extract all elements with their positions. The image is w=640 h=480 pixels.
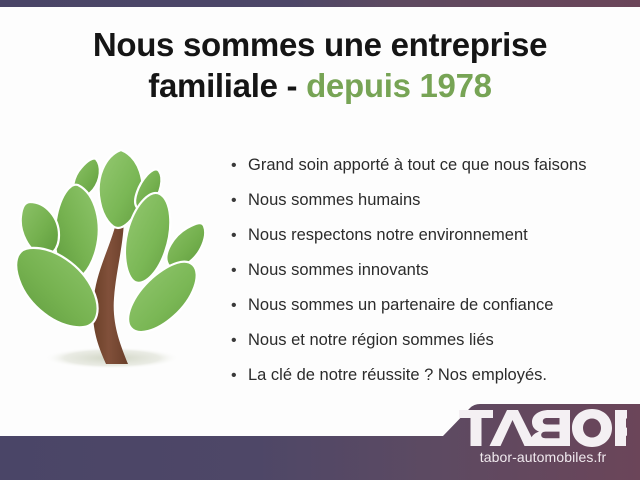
- slide-canvas: Nous sommes une entreprise familiale - d…: [0, 0, 640, 480]
- list-item-label: Nous sommes humains: [248, 191, 420, 209]
- list-item-label: Nous sommes un partenaire de confiance: [248, 296, 553, 314]
- logo-wordmark: [455, 408, 631, 448]
- top-accent-bar: [0, 0, 640, 7]
- bullet-marker-icon: •: [231, 183, 237, 218]
- bullet-marker-icon: •: [231, 148, 237, 183]
- value-proposition-list: • Grand soin apporté à tout ce que nous …: [228, 148, 628, 393]
- page-title-line1: Nous sommes une entreprise: [30, 24, 610, 65]
- list-item: • Nous et notre région sommes liés: [228, 323, 628, 358]
- list-item: • Nous sommes un partenaire de confiance: [228, 288, 628, 323]
- page-title-accent: depuis 1978: [306, 67, 492, 104]
- list-item: • La clé de notre réussite ? Nos employé…: [228, 358, 628, 393]
- logo-wordmark-svg: [459, 408, 627, 448]
- list-item-label: Nous respectons notre environnement: [248, 226, 528, 244]
- list-item: • Grand soin apporté à tout ce que nous …: [228, 148, 628, 183]
- tree-illustration-svg: [8, 140, 220, 395]
- bullet-marker-icon: •: [231, 323, 237, 358]
- list-item: • Nous respectons notre environnement: [228, 218, 628, 253]
- bullet-marker-icon: •: [231, 253, 237, 288]
- brand-logo[interactable]: tabor-automobiles.fr: [455, 408, 631, 466]
- bullet-marker-icon: •: [231, 288, 237, 323]
- tree-illustration: [8, 140, 220, 395]
- page-title-line2-plain: familiale -: [148, 67, 306, 104]
- logo-tagline: tabor-automobiles.fr: [455, 448, 631, 466]
- list-item-label: La clé de notre réussite ? Nos employés.: [248, 366, 547, 384]
- list-item-label: Nous et notre région sommes liés: [248, 331, 494, 349]
- footer-band: tabor-automobiles.fr: [0, 400, 640, 480]
- page-title: Nous sommes une entreprise familiale - d…: [30, 24, 610, 106]
- bullet-marker-icon: •: [231, 218, 237, 253]
- bullet-marker-icon: •: [231, 358, 237, 393]
- page-title-line2: familiale - depuis 1978: [30, 65, 610, 106]
- list-item-label: Grand soin apporté à tout ce que nous fa…: [248, 156, 586, 174]
- list-item: • Nous sommes innovants: [228, 253, 628, 288]
- list-item: • Nous sommes humains: [228, 183, 628, 218]
- list-item-label: Nous sommes innovants: [248, 261, 429, 279]
